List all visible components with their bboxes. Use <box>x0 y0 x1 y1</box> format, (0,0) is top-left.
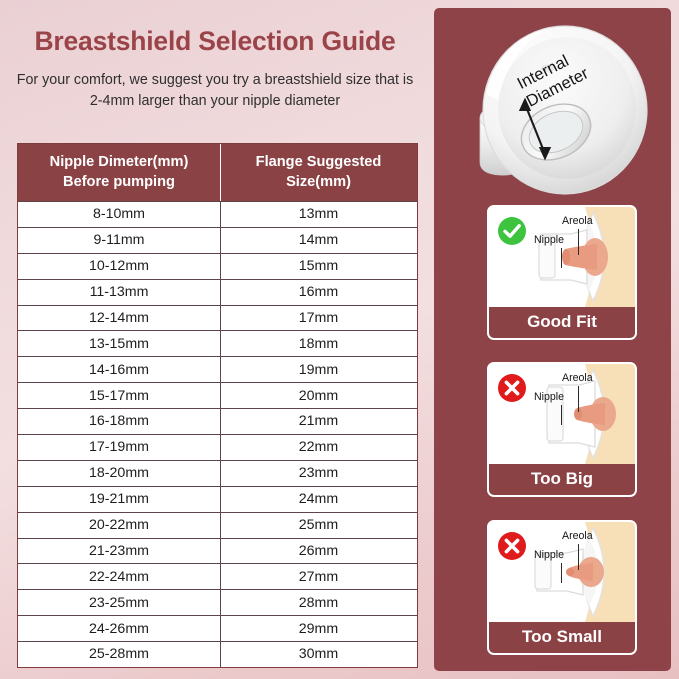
cell-flange-size: 25mm <box>220 513 416 538</box>
cell-flange-size: 30mm <box>220 642 416 667</box>
red-x-circle-icon <box>497 373 527 403</box>
table-row: 15-17mm20mm <box>18 382 417 408</box>
cell-nipple-diameter: 8-10mm <box>18 202 220 227</box>
cell-flange-size: 28mm <box>220 590 416 615</box>
table-row: 23-25mm28mm <box>18 589 417 615</box>
green-check-circle-icon <box>497 216 527 246</box>
table-row: 19-21mm24mm <box>18 486 417 512</box>
cell-nipple-diameter: 12-14mm <box>18 306 220 331</box>
areola-leader-line <box>578 544 579 570</box>
cell-flange-size: 27mm <box>220 564 416 589</box>
left-column: Breastshield Selection Guide For your co… <box>0 0 430 679</box>
column-header-nipple-diameter-line1: Nipple Dimeter(mm) <box>22 152 216 172</box>
cell-nipple-diameter: 18-20mm <box>18 461 220 486</box>
fit-card-label: Good Fit <box>489 307 635 338</box>
cell-nipple-diameter: 20-22mm <box>18 513 220 538</box>
cell-nipple-diameter: 19-21mm <box>18 487 220 512</box>
column-header-flange-size: Flange Suggested Size(mm) <box>220 144 416 201</box>
cell-flange-size: 13mm <box>220 202 416 227</box>
cell-nipple-diameter: 9-11mm <box>18 228 220 253</box>
fit-illustration: AreolaNipple <box>489 522 635 622</box>
cell-flange-size: 26mm <box>220 539 416 564</box>
fit-illustration: AreolaNipple <box>489 207 635 307</box>
fit-card-good-0: AreolaNippleGood Fit <box>487 205 637 340</box>
nipple-leader-line <box>561 248 562 268</box>
page-title: Breastshield Selection Guide <box>0 26 430 57</box>
table-header-row: Nipple Dimeter(mm) Before pumping Flange… <box>18 144 417 201</box>
cell-nipple-diameter: 21-23mm <box>18 539 220 564</box>
nipple-leader-line <box>561 405 562 425</box>
cell-nipple-diameter: 22-24mm <box>18 564 220 589</box>
nipple-leader-line <box>561 563 562 583</box>
fit-card-bad-2: AreolaNippleToo Small <box>487 520 637 655</box>
table-row: 18-20mm23mm <box>18 460 417 486</box>
areola-label: Areola <box>562 215 593 227</box>
fit-card-bad-1: AreolaNippleToo Big <box>487 362 637 497</box>
breastshield-photo: Internal Diameter <box>440 14 665 210</box>
right-panel: Internal Diameter AreolaNippleGood FitAr… <box>434 8 671 671</box>
column-header-flange-size-line2: Size(mm) <box>225 172 412 192</box>
cell-nipple-diameter: 16-18mm <box>18 409 220 434</box>
cell-flange-size: 20mm <box>220 383 416 408</box>
cell-nipple-diameter: 15-17mm <box>18 383 220 408</box>
cell-nipple-diameter: 11-13mm <box>18 280 220 305</box>
areola-label: Areola <box>562 530 593 542</box>
table-row: 9-11mm14mm <box>18 227 417 253</box>
red-x-circle-icon <box>497 531 527 561</box>
page-subtitle: For your comfort, we suggest you try a b… <box>14 70 416 112</box>
nipple-label: Nipple <box>534 549 564 561</box>
cell-flange-size: 19mm <box>220 357 416 382</box>
cell-flange-size: 22mm <box>220 435 416 460</box>
cell-nipple-diameter: 23-25mm <box>18 590 220 615</box>
breastshield-flange-photo-icon <box>440 14 665 210</box>
table-row: 21-23mm26mm <box>18 538 417 564</box>
table-row: 12-14mm17mm <box>18 305 417 331</box>
table-row: 22-24mm27mm <box>18 563 417 589</box>
cell-nipple-diameter: 10-12mm <box>18 254 220 279</box>
cell-nipple-diameter: 25-28mm <box>18 642 220 667</box>
cell-flange-size: 18mm <box>220 331 416 356</box>
table-row: 14-16mm19mm <box>18 356 417 382</box>
table-row: 11-13mm16mm <box>18 279 417 305</box>
cell-nipple-diameter: 13-15mm <box>18 331 220 356</box>
cell-flange-size: 16mm <box>220 280 416 305</box>
table-row: 10-12mm15mm <box>18 253 417 279</box>
fit-illustration: AreolaNipple <box>489 364 635 464</box>
size-chart-table: Nipple Dimeter(mm) Before pumping Flange… <box>17 143 418 668</box>
table-row: 20-22mm25mm <box>18 512 417 538</box>
breastshield-selection-guide-infographic: Breastshield Selection Guide For your co… <box>0 0 679 679</box>
cell-flange-size: 24mm <box>220 487 416 512</box>
table-row: 25-28mm30mm <box>18 641 417 667</box>
table-row: 24-26mm29mm <box>18 615 417 641</box>
table-row: 8-10mm13mm <box>18 201 417 227</box>
column-header-flange-size-line1: Flange Suggested <box>225 152 412 172</box>
cell-flange-size: 15mm <box>220 254 416 279</box>
fit-card-label: Too Small <box>489 622 635 653</box>
column-header-nipple-diameter: Nipple Dimeter(mm) Before pumping <box>18 144 220 201</box>
cell-flange-size: 17mm <box>220 306 416 331</box>
areola-leader-line <box>578 386 579 412</box>
cell-flange-size: 14mm <box>220 228 416 253</box>
cell-flange-size: 29mm <box>220 616 416 641</box>
cell-nipple-diameter: 14-16mm <box>18 357 220 382</box>
areola-leader-line <box>578 229 579 255</box>
nipple-label: Nipple <box>534 234 564 246</box>
nipple-label: Nipple <box>534 391 564 403</box>
cell-flange-size: 23mm <box>220 461 416 486</box>
column-header-nipple-diameter-line2: Before pumping <box>22 172 216 192</box>
table-row: 17-19mm22mm <box>18 434 417 460</box>
cell-nipple-diameter: 17-19mm <box>18 435 220 460</box>
areola-label: Areola <box>562 372 593 384</box>
cell-nipple-diameter: 24-26mm <box>18 616 220 641</box>
fit-card-label: Too Big <box>489 464 635 495</box>
table-row: 13-15mm18mm <box>18 330 417 356</box>
table-row: 16-18mm21mm <box>18 408 417 434</box>
cell-flange-size: 21mm <box>220 409 416 434</box>
